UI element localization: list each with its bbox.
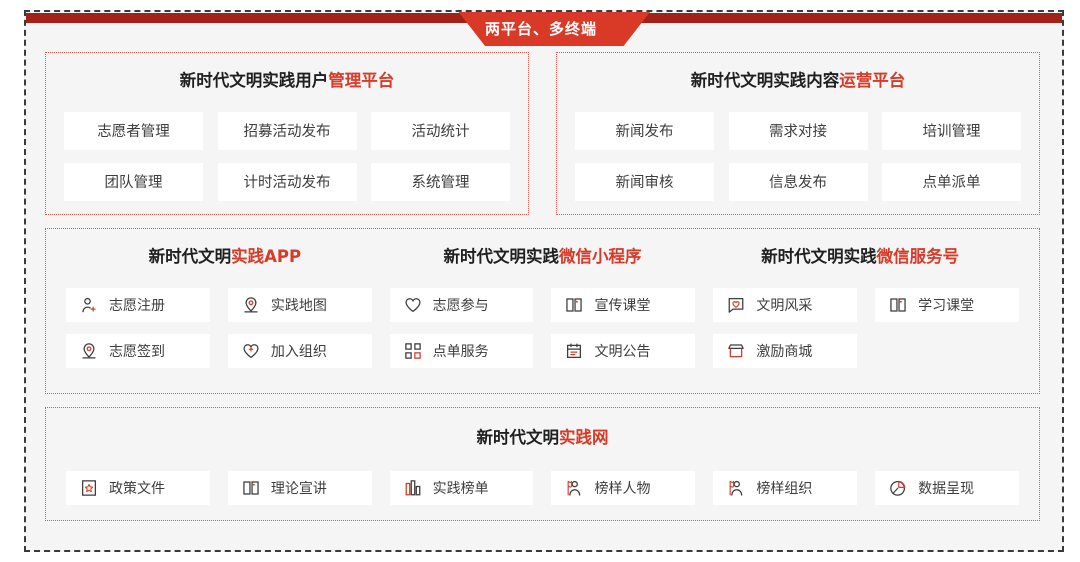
tile-civilization-announcement[interactable]: 文明公告 bbox=[551, 334, 695, 368]
tile-row: 志愿者管理 招募活动发布 活动统计 bbox=[46, 112, 528, 150]
title-plain: 新时代文明 bbox=[477, 428, 560, 447]
tile-incentive-mall[interactable]: 激励商城 bbox=[713, 334, 857, 368]
panel-title-website: 新时代文明实践网 bbox=[46, 430, 1039, 447]
tile-order-dispatch[interactable]: 点单派单 bbox=[882, 163, 1021, 201]
tile-theory-lecture[interactable]: 理论宣讲 bbox=[228, 471, 372, 505]
tile-activity-statistics[interactable]: 活动统计 bbox=[371, 112, 510, 150]
title-highlight: 微信服务号 bbox=[877, 247, 960, 266]
tile-label: 点单服务 bbox=[433, 341, 489, 361]
tile-team-management[interactable]: 团队管理 bbox=[64, 163, 203, 201]
tile-label: 政策文件 bbox=[109, 478, 165, 498]
panel-title-content-platform: 新时代文明实践内容运营平台 bbox=[557, 73, 1039, 90]
title-highlight: 实践网 bbox=[559, 428, 609, 447]
panel-terminals: 新时代文明实践APP 新时代文明实践微信小程序 新时代文明实践微信服务号 bbox=[45, 228, 1040, 394]
tile-news-publish[interactable]: 新闻发布 bbox=[575, 112, 714, 150]
title-plain: 新时代文明实践用户 bbox=[180, 71, 329, 90]
panel-content-operation-platform: 新时代文明实践内容运营平台 新闻发布 需求对接 培训管理 新闻审核 信息发布 点… bbox=[556, 52, 1040, 215]
title-highlight: 管理平台 bbox=[328, 71, 394, 90]
title-highlight: 实践APP bbox=[231, 247, 301, 266]
terminal-headings: 新时代文明实践APP 新时代文明实践微信小程序 新时代文明实践微信服务号 bbox=[46, 249, 1039, 266]
panel-title-user-platform: 新时代文明实践用户管理平台 bbox=[46, 73, 528, 90]
tile-row: 团队管理 计时活动发布 系统管理 bbox=[46, 163, 528, 201]
tile-practice-map[interactable]: 实践地图 bbox=[228, 288, 372, 322]
tile-system-management[interactable]: 系统管理 bbox=[371, 163, 510, 201]
tile-label: 文明公告 bbox=[594, 341, 650, 361]
heart-icon bbox=[404, 296, 422, 314]
tile-recruit-activity-publish[interactable]: 招募活动发布 bbox=[218, 112, 357, 150]
heart-plus-icon bbox=[242, 342, 260, 360]
message-heart-icon bbox=[727, 296, 745, 314]
model-person-icon bbox=[727, 479, 745, 497]
bar-chart-icon bbox=[404, 479, 422, 497]
tile-label: 实践地图 bbox=[271, 295, 327, 315]
title-plain: 新时代文明实践 bbox=[443, 247, 559, 266]
tile-volunteer-register[interactable]: 志愿注册 bbox=[66, 288, 210, 322]
tile-label: 激励商城 bbox=[756, 341, 812, 361]
title-highlight: 微信小程序 bbox=[559, 247, 642, 266]
open-book-icon bbox=[242, 479, 260, 497]
tile-publicity-classroom[interactable]: 宣传课堂 bbox=[551, 288, 695, 322]
map-pin-icon bbox=[242, 296, 260, 314]
tile-civilization-style[interactable]: 文明风采 bbox=[713, 288, 857, 322]
tile-training-management[interactable]: 培训管理 bbox=[882, 112, 1021, 150]
tile-join-organization[interactable]: 加入组织 bbox=[228, 334, 372, 368]
tile-demand-matching[interactable]: 需求对接 bbox=[729, 112, 868, 150]
tile-volunteer-checkin[interactable]: 志愿签到 bbox=[66, 334, 210, 368]
tile-policy-documents[interactable]: 政策文件 bbox=[66, 471, 210, 505]
calendar-icon bbox=[565, 342, 583, 360]
title-plain: 新时代文明实践内容 bbox=[691, 71, 840, 90]
open-book-icon bbox=[889, 296, 907, 314]
panel-website: 新时代文明实践网 政策文件 bbox=[45, 407, 1040, 521]
map-pin-icon bbox=[80, 342, 98, 360]
tile-label: 志愿签到 bbox=[109, 341, 165, 361]
tile-model-person[interactable]: 榜样人物 bbox=[551, 471, 695, 505]
tile-study-classroom[interactable]: 学习课堂 bbox=[875, 288, 1019, 322]
tile-row: 新闻审核 信息发布 点单派单 bbox=[557, 163, 1039, 201]
tile-label: 志愿参与 bbox=[433, 295, 489, 315]
title-plain: 新时代文明 bbox=[149, 247, 232, 266]
user-add-icon bbox=[80, 296, 98, 314]
tile-practice-ranking[interactable]: 实践榜单 bbox=[390, 471, 534, 505]
policy-doc-icon bbox=[80, 479, 98, 497]
panel-title-app: 新时代文明实践APP bbox=[66, 249, 384, 266]
tile-volunteer-participate[interactable]: 志愿参与 bbox=[390, 288, 534, 322]
tile-timed-activity-publish[interactable]: 计时活动发布 bbox=[218, 163, 357, 201]
tile-label: 学习课堂 bbox=[918, 295, 974, 315]
tile-model-organization[interactable]: 榜样组织 bbox=[713, 471, 857, 505]
banner-label: 两平台、多终端 bbox=[483, 22, 597, 37]
tile-news-review[interactable]: 新闻审核 bbox=[575, 163, 714, 201]
tile-data-presentation[interactable]: 数据呈现 bbox=[875, 471, 1019, 505]
panel-title-service-account: 新时代文明实践微信服务号 bbox=[701, 249, 1019, 266]
tile-label: 加入组织 bbox=[271, 341, 327, 361]
panel-title-miniprogram: 新时代文明实践微信小程序 bbox=[384, 249, 702, 266]
tile-label: 志愿注册 bbox=[109, 295, 165, 315]
tile-empty-slot bbox=[875, 334, 1019, 368]
tile-label: 宣传课堂 bbox=[594, 295, 650, 315]
tile-label: 文明风采 bbox=[756, 295, 812, 315]
title-highlight: 运营平台 bbox=[839, 71, 905, 90]
pie-chart-icon bbox=[889, 479, 907, 497]
tile-label: 榜样组织 bbox=[756, 478, 812, 498]
model-person-icon bbox=[565, 479, 583, 497]
open-book-icon bbox=[565, 296, 583, 314]
tile-label: 理论宣讲 bbox=[271, 478, 327, 498]
shop-icon bbox=[727, 342, 745, 360]
infographic-page: 两平台、多终端 新时代文明实践用户管理平台 志愿者管理 招募活动发布 活动统计 … bbox=[0, 0, 1080, 562]
tile-order-service[interactable]: 点单服务 bbox=[390, 334, 534, 368]
tile-info-publish[interactable]: 信息发布 bbox=[729, 163, 868, 201]
terminal-tile-grid: 志愿注册 实践地图 志愿参与 bbox=[46, 288, 1039, 368]
tile-volunteer-management[interactable]: 志愿者管理 bbox=[64, 112, 203, 150]
service-tree-icon bbox=[404, 342, 422, 360]
tile-label: 实践榜单 bbox=[433, 478, 489, 498]
tile-label: 榜样人物 bbox=[594, 478, 650, 498]
tile-row: 新闻发布 需求对接 培训管理 bbox=[557, 112, 1039, 150]
panel-user-management-platform: 新时代文明实践用户管理平台 志愿者管理 招募活动发布 活动统计 团队管理 计时活… bbox=[45, 52, 529, 215]
website-tile-grid: 政策文件 理论宣讲 bbox=[46, 471, 1039, 505]
title-plain: 新时代文明实践 bbox=[761, 247, 877, 266]
tile-label: 数据呈现 bbox=[918, 478, 974, 498]
